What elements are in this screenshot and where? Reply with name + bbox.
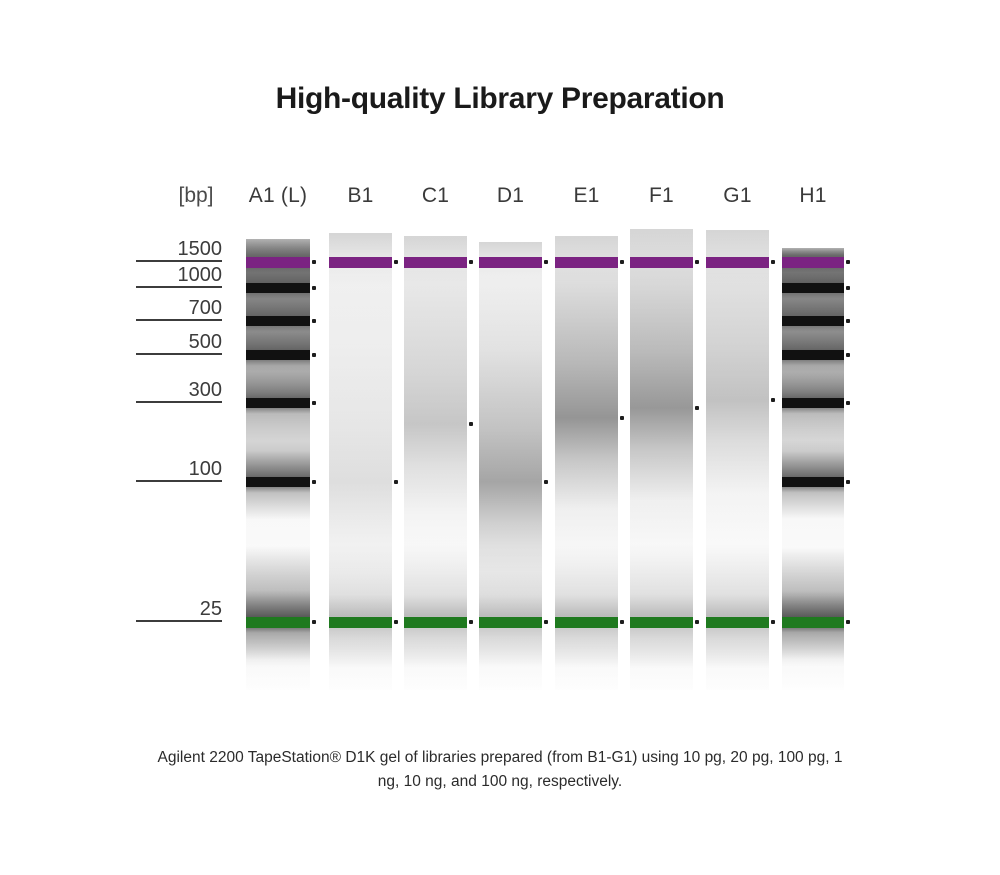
upper-marker-band [630, 257, 693, 268]
band-tick-marker [469, 620, 473, 624]
band-tick-marker [312, 620, 316, 624]
ladder-band-300 [782, 398, 844, 408]
lower-marker-band [706, 617, 769, 628]
ladder-band-100 [782, 477, 844, 487]
gel-lane-c1 [404, 236, 467, 690]
upper-marker-band [555, 257, 618, 268]
ladder-band-100 [246, 477, 310, 487]
gel-lane-d1 [479, 242, 542, 690]
ladder-band-500 [782, 350, 844, 360]
upper-marker-band [706, 257, 769, 268]
smear-peak-tick-marker [469, 422, 473, 426]
figure-caption: Agilent 2200 TapeStation® D1K gel of lib… [150, 746, 850, 794]
gel-image: [bp] 1500100070050030010025 A1 (L)B1C1D1… [0, 0, 1000, 875]
bp-tick-label: 100 [189, 459, 222, 479]
lane-header-h1: H1 [760, 184, 866, 208]
smear-peak-tick-marker [394, 480, 398, 484]
bp-tick-label: 500 [189, 332, 222, 352]
ladder-band-1000 [246, 283, 310, 293]
band-tick-marker [846, 319, 850, 323]
band-tick-marker [312, 286, 316, 290]
gel-lane-a1l [246, 239, 310, 690]
lower-marker-band [555, 617, 618, 628]
bp-tick-label: 25 [200, 599, 222, 619]
band-tick-marker [312, 353, 316, 357]
smear-peak-tick-marker [544, 480, 548, 484]
bp-tick-rule [136, 286, 222, 288]
band-tick-marker [846, 260, 850, 264]
bp-tick-rule [136, 353, 222, 355]
smear-peak-tick-marker [695, 406, 699, 410]
band-tick-marker [544, 260, 548, 264]
smear-peak-tick-marker [771, 398, 775, 402]
ladder-band-700 [246, 316, 310, 326]
bp-tick-rule [136, 319, 222, 321]
bp-tick-rule [136, 620, 222, 622]
band-tick-marker [544, 620, 548, 624]
band-tick-marker [394, 260, 398, 264]
lower-marker-band [479, 617, 542, 628]
lower-marker-band [329, 617, 392, 628]
band-tick-marker [695, 260, 699, 264]
band-tick-marker [771, 260, 775, 264]
band-tick-marker [620, 260, 624, 264]
upper-marker-band [479, 257, 542, 268]
band-tick-marker [846, 620, 850, 624]
band-tick-marker [394, 620, 398, 624]
ladder-band-1000 [782, 283, 844, 293]
band-tick-marker [846, 401, 850, 405]
band-tick-marker [312, 480, 316, 484]
ladder-band-300 [246, 398, 310, 408]
bp-tick-rule [136, 480, 222, 482]
upper-marker-band [329, 257, 392, 268]
band-tick-marker [695, 620, 699, 624]
bp-tick-label: 1500 [178, 239, 223, 259]
ladder-band-700 [782, 316, 844, 326]
gel-lane-f1 [630, 229, 693, 690]
band-tick-marker [846, 480, 850, 484]
gel-figure-page: High-quality Library Preparation [bp] 15… [0, 0, 1000, 875]
gel-lane-g1 [706, 230, 769, 690]
band-tick-marker [312, 401, 316, 405]
bp-tick-rule [136, 401, 222, 403]
upper-marker-band [782, 257, 844, 268]
lower-marker-band [782, 617, 844, 628]
band-tick-marker [620, 620, 624, 624]
lower-marker-band [630, 617, 693, 628]
smear-peak-tick-marker [620, 416, 624, 420]
band-tick-marker [846, 286, 850, 290]
band-tick-marker [846, 353, 850, 357]
upper-marker-band [246, 257, 310, 268]
bp-tick-label: 1000 [178, 265, 223, 285]
bp-tick-label: 300 [189, 380, 222, 400]
gel-lane-b1 [329, 233, 392, 690]
upper-marker-band [404, 257, 467, 268]
bp-tick-rule [136, 260, 222, 262]
band-tick-marker [469, 260, 473, 264]
band-tick-marker [312, 319, 316, 323]
bp-unit-header: [bp] [168, 184, 224, 208]
lower-marker-band [246, 617, 310, 628]
bp-tick-label: 700 [189, 298, 222, 318]
band-tick-marker [312, 260, 316, 264]
gel-lane-e1 [555, 236, 618, 690]
lower-marker-band [404, 617, 467, 628]
ladder-band-500 [246, 350, 310, 360]
band-tick-marker [771, 620, 775, 624]
gel-lane-h1 [782, 248, 844, 690]
